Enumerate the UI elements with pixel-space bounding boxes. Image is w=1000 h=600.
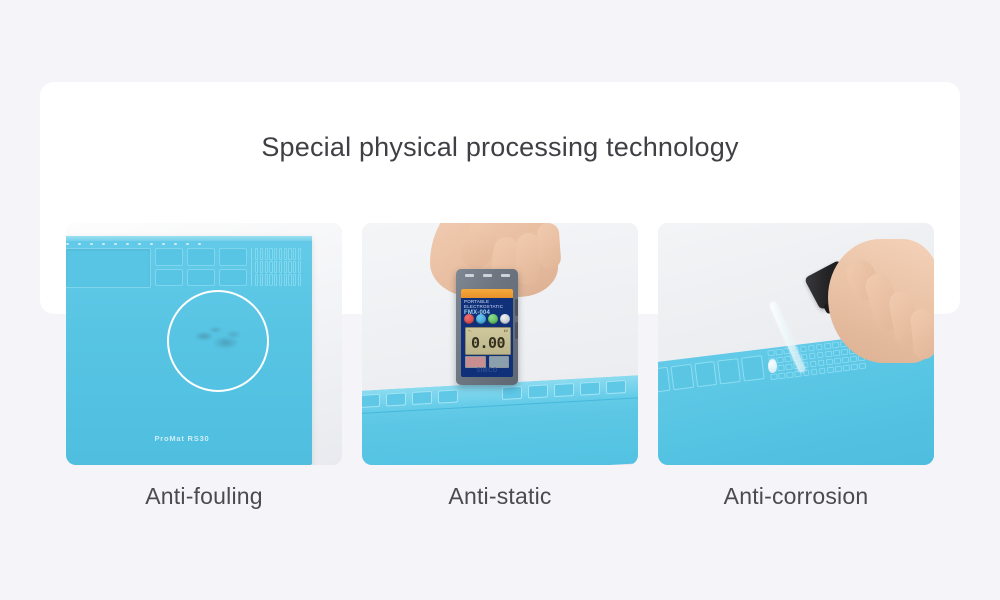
meter-sensor-pads [465,356,509,368]
electrostatic-field-meter: PORTABLE ELECTROSTATIC FMX-004 + - kV 0.… [456,269,518,385]
lcd-status-row: + - kV [468,329,508,333]
caption-anti-static: Anti-static [362,483,638,510]
silicone-mat-edge-image [362,375,638,465]
mat-slot-pair [219,248,247,286]
feature-image-anti-static[interactable]: PORTABLE ELECTROSTATIC FMX-004 + - kV 0.… [362,223,638,465]
caption-anti-corrosion: Anti-corrosion [658,483,934,510]
meter-top-connectors [460,272,514,278]
caption-anti-fouling: Anti-fouling [66,483,342,510]
lcd-polarity: + - [468,329,472,333]
page-title: Special physical processing technology [40,132,960,163]
lcd-reading-value: 0.00 [466,334,510,352]
mat-compartment-tray [66,248,301,286]
feature-captions: Anti-fouling Anti-static Anti-corrosion [66,483,934,510]
meter-pad-red [465,356,486,368]
meter-button-green[interactable] [488,314,498,324]
meter-front-panel: PORTABLE ELECTROSTATIC FMX-004 + - kV 0.… [461,289,513,377]
mat-compartment-tray [658,355,765,393]
mat-brand-label: ProMat RS30 [66,434,312,443]
meter-side-buttons[interactable] [515,299,518,339]
mat-screw-grid [251,248,301,286]
magnifier-circle-highlight [167,290,269,392]
mat-slot-large [66,248,151,288]
finger [909,308,934,360]
silicone-mat-image: ProMat RS30 [66,236,312,465]
mat-slot-pair [187,248,215,286]
lcd-unit: kV [504,329,508,333]
meter-model-small: PORTABLE ELECTROSTATIC [464,299,503,309]
meter-button-red[interactable] [464,314,474,324]
meter-brand-logo: SIMCO [461,368,513,374]
meter-lcd-display: + - kV 0.00 [465,327,511,355]
liquid-droplet [768,359,777,373]
meter-button-grey[interactable] [500,314,510,324]
meter-pad-blue [489,356,510,368]
feature-panels: ProMat RS30 [66,223,934,465]
mat-marker-dots [66,241,236,246]
feature-image-anti-fouling[interactable]: ProMat RS30 [66,223,342,465]
meter-orange-stripe [461,289,513,298]
feature-image-anti-corrosion[interactable] [658,223,934,465]
finger [536,223,561,270]
mat-slot-pair [155,248,183,286]
meter-button-row[interactable] [464,313,510,324]
meter-button-blue[interactable] [476,314,486,324]
